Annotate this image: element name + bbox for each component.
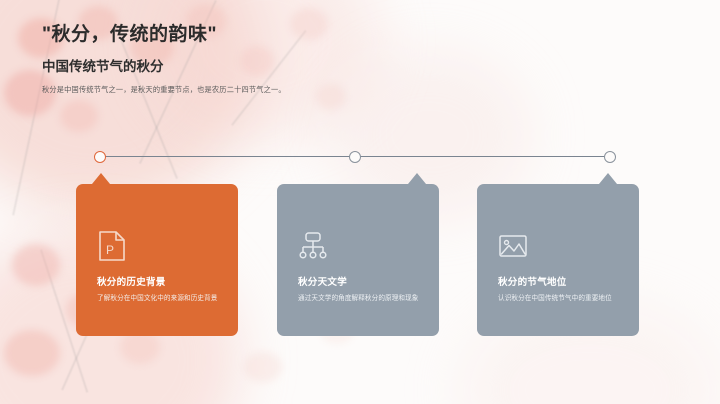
timeline-node-1[interactable] [94,151,106,163]
page-subtitle: 中国传统节气的秋分 [42,59,482,75]
page-title: "秋分，传统的韵味" [42,24,482,47]
card-history[interactable]: P 秋分的历史背景 了解秋分在中国文化中的来源和历史背景 [76,184,238,336]
card-astronomy[interactable]: 秋分天文学 通过天文学的角度解释秋分的原理和现象 [277,184,439,336]
file-p-icon: P [97,230,127,262]
slide-canvas: "秋分，传统的韵味" 中国传统节气的秋分 秋分是中国传统节气之一，是秋天的重要节… [0,0,720,404]
card-pointer-arrow [599,173,617,184]
card-title: 秋分的历史背景 [97,277,166,288]
card-description: 认识秋分在中国传统节气中的重要地位 [498,294,622,305]
timeline-node-3[interactable] [604,151,616,163]
page-description: 秋分是中国传统节气之一，是秋天的重要节点，也是农历二十四节气之一。 [42,85,482,96]
card-pointer-arrow [92,173,110,184]
card-description: 通过天文学的角度解释秋分的原理和现象 [298,294,422,305]
card-pointer-arrow [408,173,426,184]
card-status[interactable]: 秋分的节气地位 认识秋分在中国传统节气中的重要地位 [477,184,639,336]
card-title: 秋分的节气地位 [498,277,567,288]
sitemap-icon [298,230,328,262]
slide-header: "秋分，传统的韵味" 中国传统节气的秋分 秋分是中国传统节气之一，是秋天的重要节… [42,24,482,96]
timeline-node-2[interactable] [349,151,361,163]
card-description: 了解秋分在中国文化中的来源和历史背景 [97,294,221,305]
timeline [100,156,610,158]
image-icon [498,230,528,262]
svg-text:P: P [106,243,114,257]
card-title: 秋分天文学 [298,277,347,288]
